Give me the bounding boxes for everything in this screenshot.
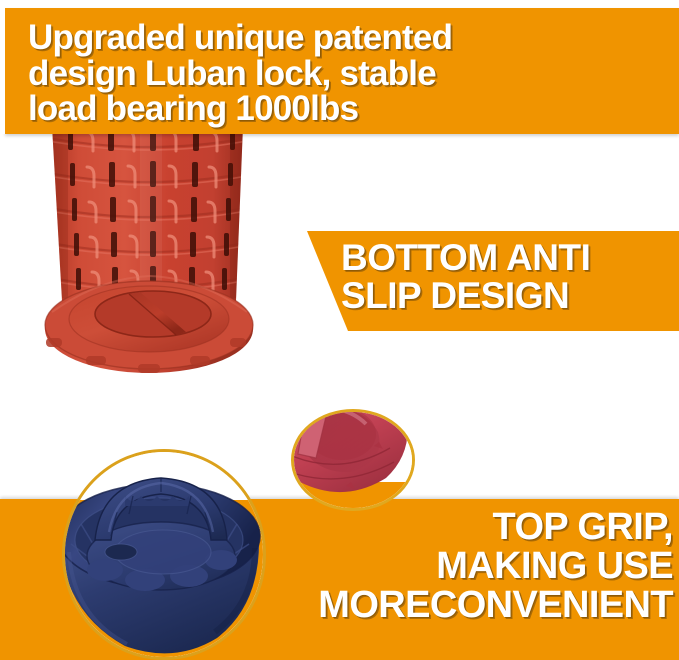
navy-top-grip-closeup-inset bbox=[62, 449, 266, 660]
red-base-closeup-inset bbox=[291, 409, 415, 511]
anti-slip-banner-text: BOTTOM ANTI SLIP DESIGN bbox=[341, 239, 590, 314]
anti-slip-banner: BOTTOM ANTI SLIP DESIGN bbox=[296, 231, 679, 331]
product-feature-image: Upgraded unique patented design Luban lo… bbox=[0, 0, 679, 660]
red-collapsible-stool bbox=[0, 126, 310, 408]
headline-banner: Upgraded unique patented design Luban lo… bbox=[5, 8, 679, 134]
headline-banner-text: Upgraded unique patented design Luban lo… bbox=[28, 20, 452, 127]
top-grip-banner-text: TOP GRIP, MAKING USE MORECONVENIENT bbox=[318, 508, 673, 624]
left-white-margin bbox=[0, 0, 5, 134]
